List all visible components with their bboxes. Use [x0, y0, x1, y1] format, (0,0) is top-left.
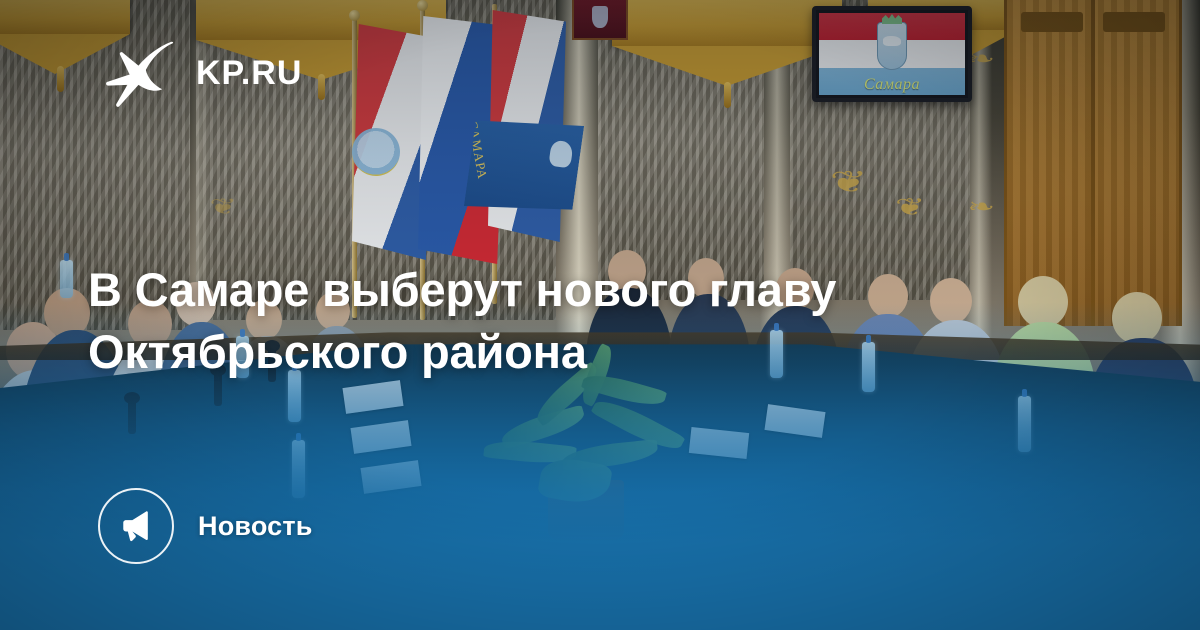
- brand-name: KP.RU: [196, 56, 302, 90]
- brand-logo[interactable]: KP.RU: [100, 36, 302, 110]
- page-title: В Самаре выберут нового главу Октябрьско…: [88, 259, 1048, 381]
- status-badge-label: Новость: [198, 511, 313, 542]
- news-share-card: ❦ ❦ ❧ ❧ ❦ Самара: [0, 0, 1200, 630]
- swallow-bird-icon: [100, 36, 174, 110]
- megaphone-icon: [98, 488, 174, 564]
- status-badge[interactable]: Новость: [98, 488, 313, 564]
